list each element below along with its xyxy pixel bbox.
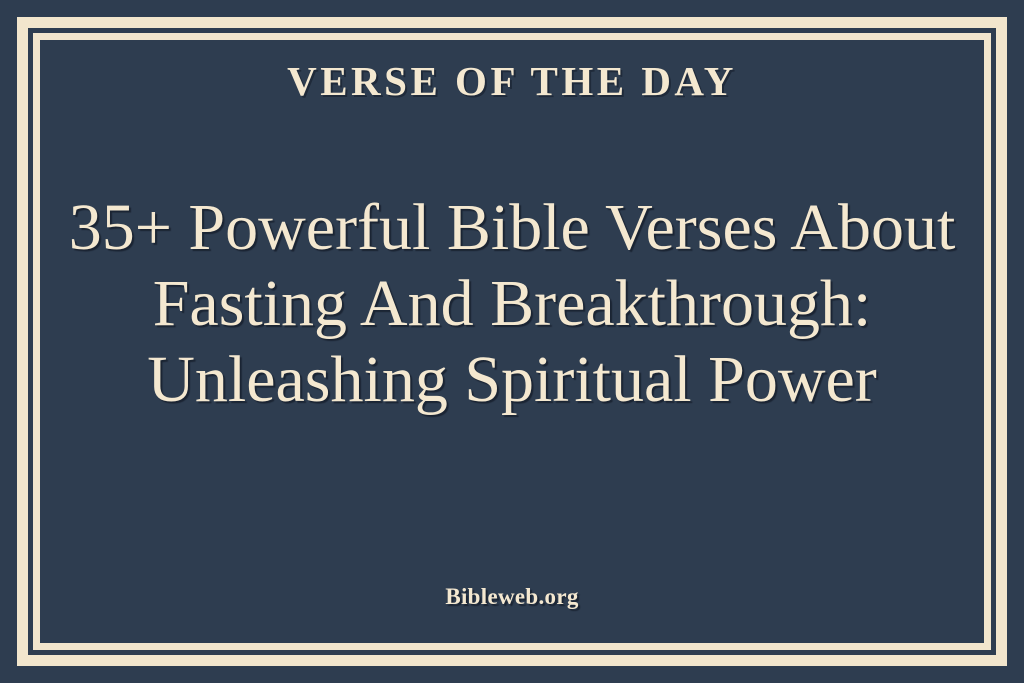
outer-frame-border: VERSE OF THE DAY 35+ Powerful Bible Vers… (17, 17, 1007, 666)
card-content: VERSE OF THE DAY 35+ Powerful Bible Vers… (40, 40, 984, 643)
site-attribution: Bibleweb.org (40, 584, 984, 610)
verse-of-the-day-card: VERSE OF THE DAY 35+ Powerful Bible Vers… (0, 0, 1024, 683)
page-title: 35+ Powerful Bible Verses About Fasting … (40, 190, 984, 418)
title-line-3: Unleashing Spiritual Power (147, 342, 877, 418)
inner-frame-border: VERSE OF THE DAY 35+ Powerful Bible Vers… (33, 33, 991, 650)
title-line-2: Fasting And Breakthrough: (153, 266, 872, 342)
title-line-1: 35+ Powerful Bible Verses About (69, 190, 956, 266)
eyebrow-heading: VERSE OF THE DAY (287, 60, 737, 103)
